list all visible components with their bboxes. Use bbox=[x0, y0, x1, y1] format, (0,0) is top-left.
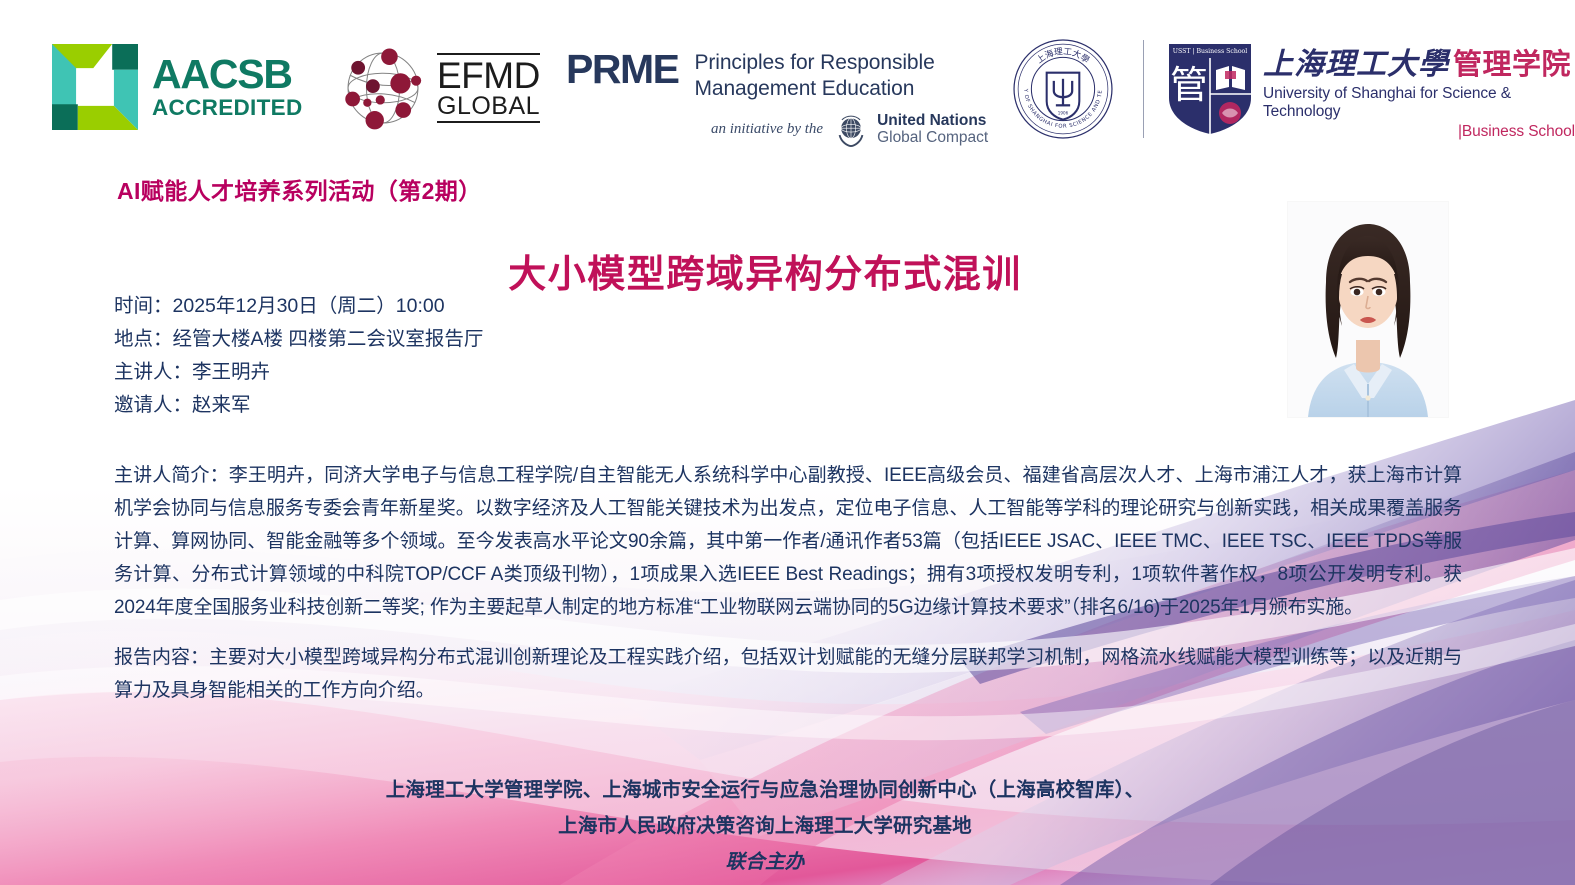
aacsb-logo: AACSB ACCREDITED bbox=[52, 44, 303, 130]
bs-en-university: University of Shanghai for Science & Tec… bbox=[1263, 85, 1575, 121]
logo-strip: AACSB ACCREDITED bbox=[0, 0, 1575, 160]
footer-organizers: 上海理工大学管理学院、上海城市安全运行与应急治理协同创新中心（上海高校智库）、 … bbox=[0, 772, 1530, 880]
speaker-portrait-image bbox=[1288, 202, 1448, 417]
aacsb-mark-icon bbox=[52, 44, 138, 130]
business-school-text-block: 上海理工大學 管理学院 University of Shanghai for S… bbox=[1263, 50, 1575, 141]
efmd-network-sphere-icon bbox=[337, 42, 429, 134]
prme-initiative-text: an initiative by the bbox=[711, 121, 823, 138]
aacsb-accredited-label: ACCREDITED bbox=[152, 97, 303, 120]
speaker-portrait bbox=[1288, 202, 1448, 417]
bs-cn-school: 管理学院 bbox=[1453, 51, 1571, 80]
talk-content-paragraph: 报告内容：主要对大小模型跨域异构分布式混训创新理论及工程实践介绍，包括双计划赋能… bbox=[114, 641, 1462, 707]
event-detail-speaker: 主讲人：李王明卉 bbox=[114, 356, 483, 389]
prme-description-line1: Principles for Responsible bbox=[694, 50, 934, 76]
ungc-line1: United Nations bbox=[877, 112, 988, 129]
footer-line-2: 上海市人民政府决策咨询上海理工大学研究基地 bbox=[0, 808, 1530, 844]
logo-divider bbox=[1143, 40, 1144, 138]
ungc-line2: Global Compact bbox=[877, 129, 988, 146]
svg-text:USST | Business School: USST | Business School bbox=[1173, 48, 1248, 55]
efmd-text-block: EFMD GLOBAL bbox=[437, 53, 540, 123]
usst-business-school-logo: USST | Business School 管 上海理工大學 管理学院 bbox=[1167, 42, 1575, 141]
business-school-shield-icon: USST | Business School 管 bbox=[1167, 42, 1253, 136]
efmd-wordmark: EFMD bbox=[437, 53, 540, 94]
event-details-list: 时间：2025年12月30日（周二）10:00 地点：经管大楼A楼 四楼第二会议… bbox=[114, 290, 483, 422]
efmd-logo: EFMD GLOBAL bbox=[337, 42, 540, 134]
un-global-compact-icon bbox=[832, 110, 870, 148]
svg-text:管: 管 bbox=[1170, 63, 1208, 107]
event-detail-location: 地点：经管大楼A楼 四楼第二会议室报告厅 bbox=[114, 323, 483, 356]
un-global-compact-text: United Nations Global Compact bbox=[877, 112, 988, 147]
efmd-global-label: GLOBAL bbox=[437, 94, 540, 123]
event-detail-host: 邀请人：赵来军 bbox=[114, 389, 483, 422]
footer-line-1: 上海理工大学管理学院、上海城市安全运行与应急治理协同创新中心（上海高校智库）、 bbox=[0, 772, 1530, 808]
prme-wordmark: PRME bbox=[566, 50, 678, 89]
speaker-bio-paragraph: 主讲人简介：李王明卉，同济大学电子与信息工程学院/自主智能无人系统科学中心副教授… bbox=[114, 459, 1462, 624]
series-title: AI赋能人才培养系列活动（第2期） bbox=[117, 172, 482, 206]
bs-cn-university: 上海理工大學 bbox=[1263, 50, 1449, 80]
poster-root: AACSB ACCREDITED bbox=[0, 0, 1575, 885]
usst-university-seal-icon: 上海理工大學 UNIVERSITY OF SHANGHAI FOR SCIENC… bbox=[1012, 38, 1114, 140]
prme-logo: PRME Principles for Responsible Manageme… bbox=[566, 50, 988, 148]
bs-en-school: |Business School bbox=[1263, 123, 1575, 141]
footer-line-3: 联合主办 bbox=[0, 844, 1530, 880]
prme-description: Principles for Responsible Management Ed… bbox=[694, 50, 934, 101]
aacsb-wordmark: AACSB bbox=[152, 54, 303, 95]
aacsb-text-block: AACSB ACCREDITED bbox=[152, 54, 303, 120]
prme-description-line2: Management Education bbox=[694, 76, 934, 102]
event-detail-time: 时间：2025年12月30日（周二）10:00 bbox=[114, 290, 483, 323]
svg-text:1906: 1906 bbox=[1058, 111, 1069, 116]
